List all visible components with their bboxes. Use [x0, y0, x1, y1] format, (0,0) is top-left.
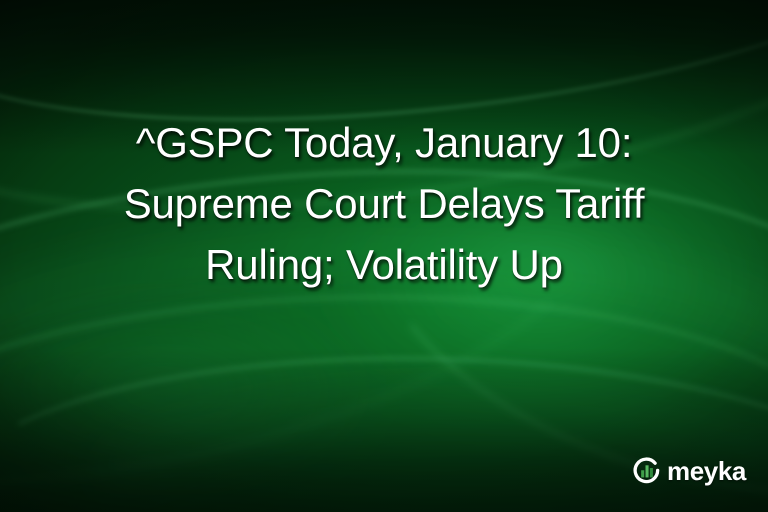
- brand-logo: meyka: [632, 456, 746, 486]
- brand-wordmark: meyka: [667, 458, 746, 484]
- meyka-bar-chart-circle-icon: [632, 456, 662, 486]
- headline-title: ^GSPC Today, January 10: Supreme Court D…: [0, 112, 768, 295]
- news-card: ^GSPC Today, January 10: Supreme Court D…: [0, 0, 768, 512]
